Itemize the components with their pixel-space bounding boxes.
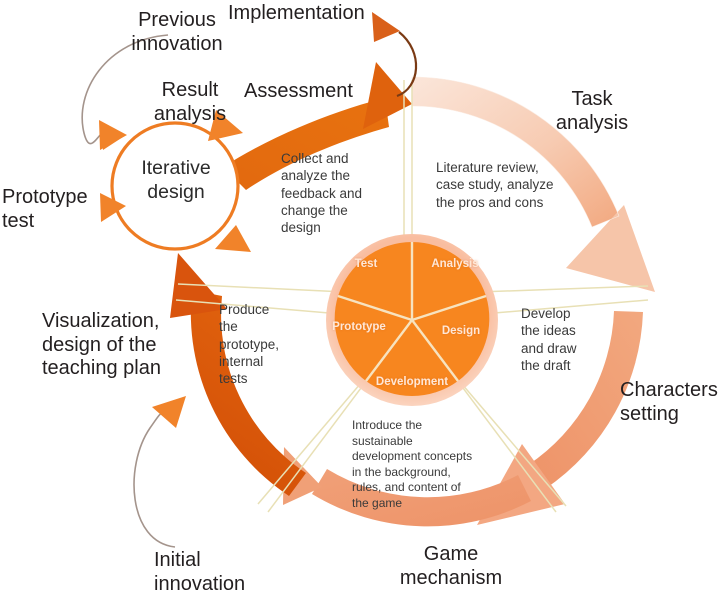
label-visualization-teaching-plan: Visualization, design of the teaching pl… xyxy=(42,310,202,381)
pie-segment-label-prototype: Prototype xyxy=(318,321,400,333)
label-assessment: Assessment xyxy=(244,80,374,104)
note-analysis: Literature review, case study, analyze t… xyxy=(436,159,596,211)
pie-segment-label-analysis: Analysis xyxy=(420,258,490,270)
note-development: Introduce the sustainable development co… xyxy=(352,418,510,512)
label-prototype-test: Prototype test xyxy=(2,186,106,233)
label-task-analysis: Task analysis xyxy=(536,88,648,135)
label-game-mechanism: Game mechanism xyxy=(381,543,521,590)
iterative-design-center-label: Iterative design xyxy=(120,157,232,205)
label-implementation: Implementation xyxy=(228,2,408,26)
label-characters-setting: Characters setting xyxy=(620,379,720,426)
pie-segment-label-development: Development xyxy=(362,376,462,388)
label-initial-innovation: Initial innovation xyxy=(154,549,292,596)
label-result-analysis: Result analysis xyxy=(135,79,245,126)
note-test: Collect and analyze the feedback and cha… xyxy=(281,150,379,236)
diagram-canvas: Analysis Design Development Prototype Te… xyxy=(0,0,720,606)
pie-segment-label-design: Design xyxy=(430,325,492,337)
pie-segment-label-test: Test xyxy=(344,258,388,270)
note-prototype: Produce the prototype, internal tests xyxy=(219,301,299,387)
initial-innovation-arc xyxy=(134,396,186,547)
label-previous-innovation: Previous innovation xyxy=(112,9,242,56)
note-design: Develop the ideas and draw the draft xyxy=(521,305,611,374)
